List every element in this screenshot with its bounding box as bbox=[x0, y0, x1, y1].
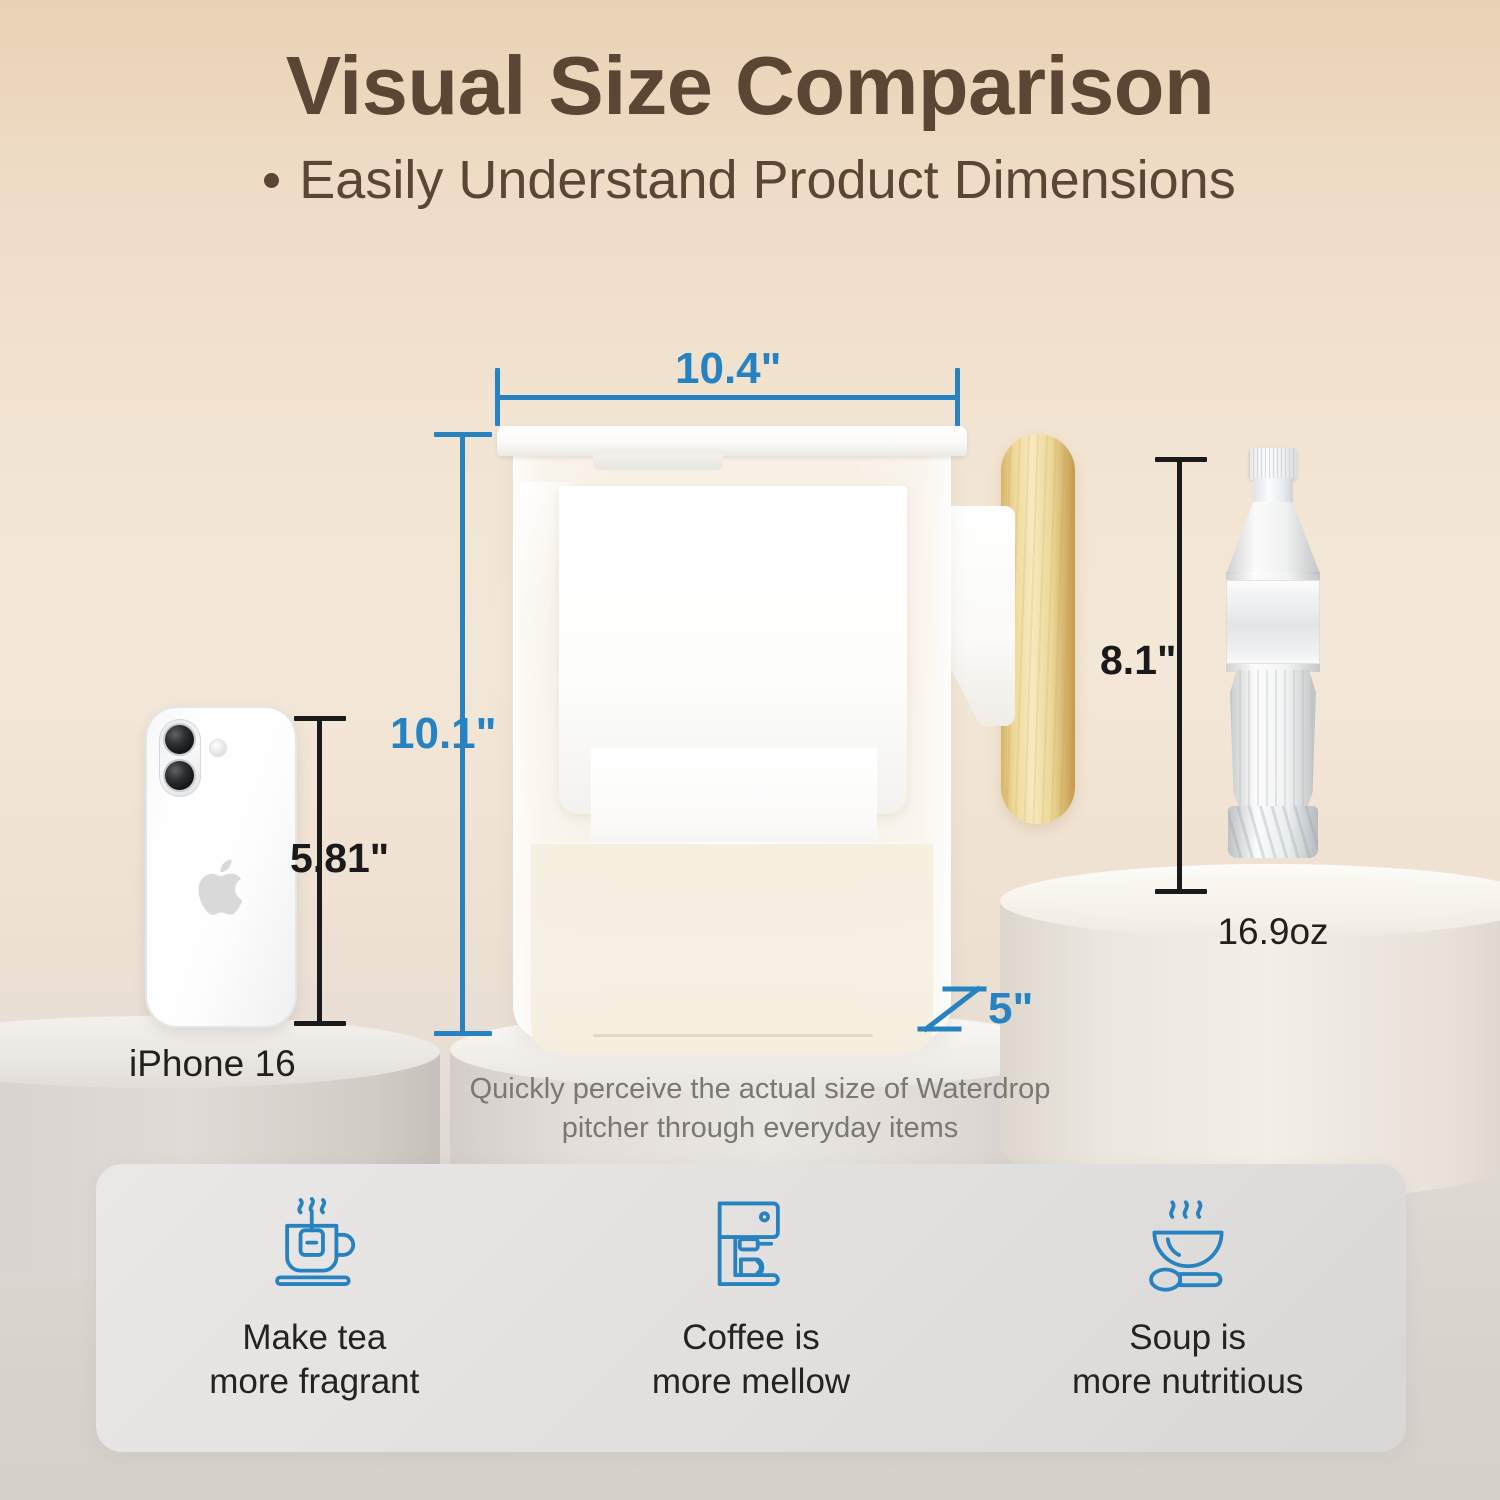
feature-coffee-label: Coffee is more mellow bbox=[652, 1316, 850, 1404]
bottle-cap bbox=[1249, 448, 1297, 480]
pitcher-width-cap-right bbox=[955, 368, 960, 426]
iphone-label: iPhone 16 bbox=[147, 1043, 295, 1085]
page-title: Visual Size Comparison bbox=[0, 42, 1500, 129]
feature-tea-label: Make tea more fragrant bbox=[209, 1316, 419, 1404]
bottle-height-cap-top bbox=[1155, 457, 1207, 462]
bottle-volume-label: 16.9oz bbox=[1212, 911, 1334, 953]
pitcher-lid-tab bbox=[593, 454, 723, 470]
bottle-neck bbox=[1253, 478, 1293, 504]
pitcher-caption: Quickly perceive the actual size of Wate… bbox=[440, 1070, 1080, 1149]
feature-panel: Make tea more fragrant Coffee is more me… bbox=[96, 1164, 1406, 1452]
camera-flash-icon bbox=[210, 740, 226, 756]
bottle-base bbox=[1228, 806, 1318, 858]
soup-bowl-icon bbox=[1132, 1190, 1244, 1302]
camera-island-icon bbox=[159, 719, 201, 797]
pitcher-height-cap-top bbox=[434, 432, 492, 437]
bottle-height-label: 8.1" bbox=[1100, 640, 1176, 681]
feature-soup: Soup is more nutritious bbox=[969, 1164, 1406, 1404]
bottle-shoulder bbox=[1226, 502, 1320, 574]
iphone-label-text: iPhone 16 bbox=[129, 1043, 296, 1085]
subtitle-row: Easily Understand Product Dimensions bbox=[0, 151, 1500, 210]
pitcher-width-dimension-line bbox=[495, 395, 960, 400]
pitcher-height-cap-bottom bbox=[434, 1031, 492, 1036]
iphone-height-label: 5.81" bbox=[290, 838, 389, 879]
iphone-16-icon bbox=[147, 708, 295, 1026]
iphone-height-cap-bottom bbox=[294, 1021, 346, 1026]
bottle-label-band bbox=[1226, 580, 1320, 664]
pitcher-base-line bbox=[593, 1034, 873, 1037]
camera-lens-icon bbox=[165, 761, 194, 790]
infographic-canvas: Visual Size Comparison Easily Understand… bbox=[0, 0, 1500, 1500]
page-subtitle: Easily Understand Product Dimensions bbox=[299, 151, 1235, 210]
bottle-height-dimension-line bbox=[1177, 457, 1182, 894]
feature-tea: Make tea more fragrant bbox=[96, 1164, 533, 1404]
pitcher-width-cap-left bbox=[495, 368, 500, 426]
pitcher-width-label: 10.4" bbox=[675, 347, 782, 391]
header: Visual Size Comparison Easily Understand… bbox=[0, 42, 1500, 211]
pitcher-depth-label: 5" bbox=[988, 987, 1033, 1031]
bottle-mid-body bbox=[1230, 670, 1316, 812]
pitcher-water bbox=[531, 844, 933, 1054]
iphone-height-cap-top bbox=[294, 716, 346, 721]
pitcher-lid bbox=[497, 426, 967, 456]
bottle-volume-text: 16.9oz bbox=[1217, 911, 1328, 953]
bottle-height-cap-bottom bbox=[1155, 889, 1207, 894]
water-filter-pitcher-icon bbox=[497, 426, 967, 1042]
pitcher-body bbox=[513, 452, 951, 1040]
coffee-machine-icon bbox=[695, 1190, 807, 1302]
camera-lens-icon bbox=[165, 725, 194, 754]
pitcher-depth-dimension-line bbox=[917, 984, 987, 1036]
bullet-dot-icon bbox=[264, 173, 279, 188]
tea-cup-icon bbox=[258, 1190, 370, 1302]
apple-logo-icon bbox=[198, 859, 244, 915]
feature-coffee: Coffee is more mellow bbox=[533, 1164, 970, 1404]
pitcher-height-label: 10.1" bbox=[390, 712, 497, 756]
feature-soup-label: Soup is more nutritious bbox=[1072, 1316, 1303, 1404]
water-bottle-icon bbox=[1212, 448, 1334, 896]
